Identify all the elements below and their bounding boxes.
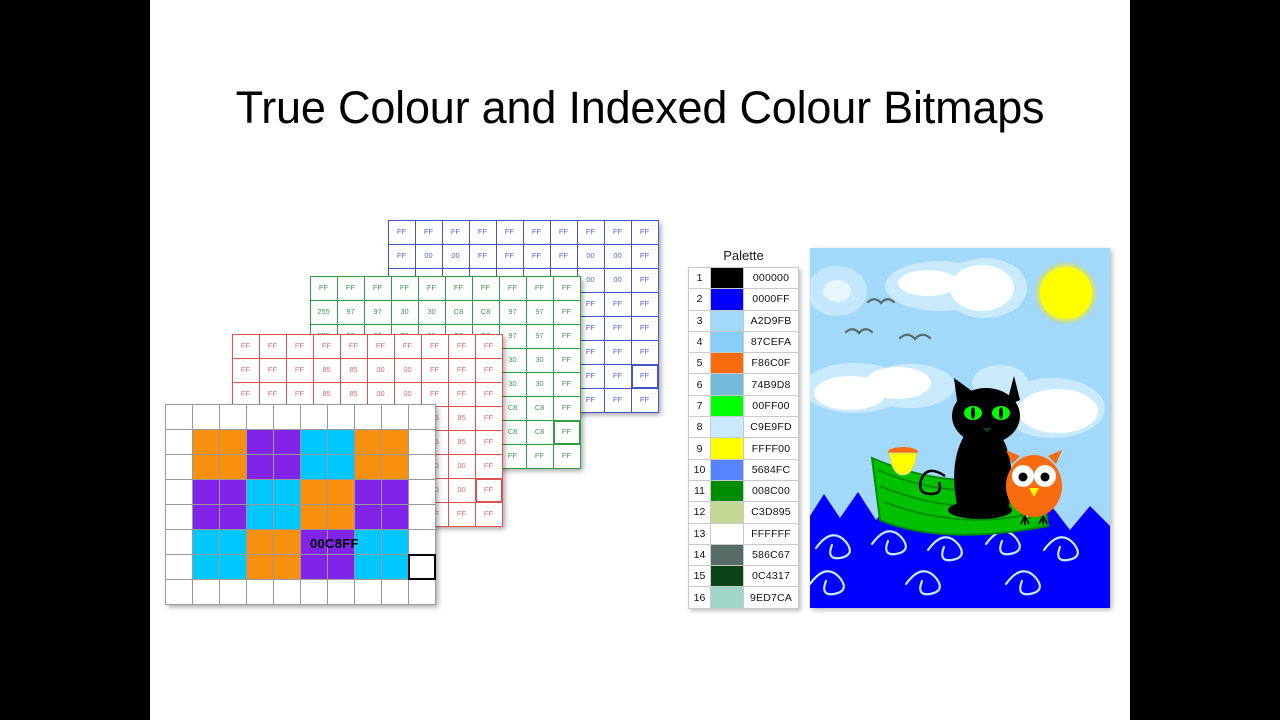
palette-table: 100000020000FF3A2D9FB487CEFA5F86C0F674B9… <box>688 267 799 609</box>
green-channel-cell: C8 <box>472 300 500 325</box>
pixel-cell[interactable] <box>408 479 436 505</box>
red-channel-cell: 85 <box>340 358 368 383</box>
pixel-cell[interactable] <box>219 479 247 505</box>
blue-channel-cell: FF <box>523 244 551 269</box>
blue-channel-cell: FF <box>469 220 497 245</box>
pixel-cell[interactable] <box>165 579 193 605</box>
swatch-colour <box>711 332 743 352</box>
green-channel-cell: FF <box>499 276 527 301</box>
blue-channel-cell: FF <box>577 364 605 389</box>
blue-channel-cell: FF <box>469 244 497 269</box>
palette-swatch[interactable] <box>711 523 744 544</box>
pixel-cell[interactable] <box>354 504 382 530</box>
blue-channel-cell: FF <box>577 340 605 365</box>
palette-swatch[interactable] <box>711 459 744 480</box>
pixel-cell[interactable] <box>408 454 436 480</box>
pixel-cell[interactable] <box>219 504 247 530</box>
blue-channel-cell: FF <box>442 220 470 245</box>
swatch-colour <box>711 587 743 607</box>
red-channel-cell: FF <box>475 382 503 407</box>
blue-channel-cell: FF <box>577 388 605 413</box>
red-channel-cell: FF <box>475 478 503 503</box>
green-channel-cell: 97 <box>364 300 392 325</box>
pixel-cell[interactable] <box>165 479 193 505</box>
pixel-cell[interactable] <box>246 554 274 580</box>
pixel-cell[interactable] <box>327 554 355 580</box>
palette-row[interactable]: 13FFFFFF <box>689 523 799 544</box>
palette-hex: 000000 <box>744 268 799 289</box>
pixel-cell[interactable] <box>381 504 409 530</box>
green-channel-cell: 30 <box>526 372 554 397</box>
palette-row[interactable]: 11008C00 <box>689 480 799 501</box>
green-channel-cell: FF <box>472 276 500 301</box>
green-channel-cell: C8 <box>526 420 554 445</box>
palette-swatch[interactable] <box>711 268 744 289</box>
pixel-cell[interactable] <box>165 404 193 430</box>
red-channel-cell: FF <box>421 358 449 383</box>
green-channel-cell: FF <box>553 276 581 301</box>
pixel-cell[interactable] <box>354 579 382 605</box>
pixel-cell[interactable] <box>273 554 301 580</box>
blue-channel-cell: FF <box>631 388 659 413</box>
palette-index: 2 <box>689 289 711 310</box>
red-channel-cell: 00 <box>367 358 395 383</box>
palette-swatch[interactable] <box>711 395 744 416</box>
red-channel-cell: 00 <box>448 478 476 503</box>
red-channel-cell: 85 <box>448 406 476 431</box>
blue-channel-cell: FF <box>523 220 551 245</box>
green-channel-cell: C8 <box>499 420 527 445</box>
blue-channel-cell: FF <box>604 340 632 365</box>
palette-index: 8 <box>689 417 711 438</box>
red-channel-cell: FF <box>448 502 476 527</box>
pixel-cell[interactable] <box>408 529 436 555</box>
palette-hex: C9E9FD <box>744 417 799 438</box>
pixel-cell[interactable] <box>246 404 274 430</box>
palette-index: 1 <box>689 268 711 289</box>
pixel-cell[interactable] <box>300 454 328 480</box>
palette-row[interactable]: 674B9D8 <box>689 374 799 395</box>
blue-channel-cell: 00 <box>415 244 443 269</box>
palette-index: 10 <box>689 459 711 480</box>
red-channel-cell: FF <box>475 454 503 479</box>
palette-index: 13 <box>689 523 711 544</box>
pixel-cell[interactable] <box>273 454 301 480</box>
pixel-cell[interactable] <box>381 454 409 480</box>
red-channel-cell: FF <box>259 358 287 383</box>
palette-swatch[interactable] <box>711 374 744 395</box>
palette-hex: C3D895 <box>744 502 799 523</box>
green-channel-cell: C8 <box>445 300 473 325</box>
red-channel-cell: 85 <box>448 430 476 455</box>
palette-hex: FFFF00 <box>744 438 799 459</box>
pixel-cell[interactable] <box>192 404 220 430</box>
sun <box>1040 267 1092 319</box>
pixel-cell[interactable] <box>300 554 328 580</box>
palette-index: 9 <box>689 438 711 459</box>
palette-swatch[interactable] <box>711 544 744 565</box>
pixel-cell[interactable] <box>327 479 355 505</box>
blue-channel-cell: FF <box>388 244 416 269</box>
blue-channel-cell: FF <box>577 220 605 245</box>
pixel-cell[interactable] <box>354 479 382 505</box>
pixel-cell[interactable] <box>246 429 274 455</box>
pixel-cell[interactable] <box>327 404 355 430</box>
pixel-cell[interactable] <box>192 504 220 530</box>
red-channel-cell: FF <box>232 358 260 383</box>
red-channel-cell: FF <box>313 334 341 359</box>
pixel-cell[interactable] <box>192 454 220 480</box>
swatch-colour <box>711 481 743 501</box>
blue-channel-cell: FF <box>631 340 659 365</box>
pixel-cell[interactable] <box>327 429 355 455</box>
blue-channel-cell: FF <box>550 244 578 269</box>
palette-hex: F86C0F <box>744 353 799 374</box>
palette-swatch[interactable] <box>711 480 744 501</box>
red-channel-cell: FF <box>421 334 449 359</box>
red-channel-cell: FF <box>448 382 476 407</box>
palette-row[interactable]: 105684FC <box>689 459 799 480</box>
palette-index: 4 <box>689 331 711 352</box>
pixel-cell[interactable] <box>300 429 328 455</box>
pixel-cell[interactable] <box>273 579 301 605</box>
blue-channel-cell: FF <box>631 316 659 341</box>
palette-swatch[interactable] <box>711 417 744 438</box>
pixel-cell[interactable] <box>327 454 355 480</box>
green-channel-cell: FF <box>445 276 473 301</box>
red-channel-cell: FF <box>286 334 314 359</box>
palette-hex: 87CEFA <box>744 331 799 352</box>
palette-row[interactable]: 20000FF <box>689 289 799 310</box>
red-channel-cell: FF <box>259 334 287 359</box>
green-channel-cell: 97 <box>499 324 527 349</box>
swatch-colour <box>711 353 743 373</box>
blue-channel-cell: FF <box>388 220 416 245</box>
red-channel-cell: FF <box>475 406 503 431</box>
palette-index: 15 <box>689 566 711 587</box>
pixel-cell[interactable] <box>381 529 409 555</box>
palette-hex: 74B9D8 <box>744 374 799 395</box>
swatch-colour <box>711 460 743 480</box>
blue-channel-cell: FF <box>604 220 632 245</box>
palette-panel: Palette 100000020000FF3A2D9FB487CEFA5F86… <box>688 248 799 609</box>
pixel-cell[interactable] <box>354 404 382 430</box>
blue-channel-cell: 00 <box>577 268 605 293</box>
pixel-cell[interactable] <box>246 454 274 480</box>
palette-index: 5 <box>689 353 711 374</box>
palette-swatch[interactable] <box>711 502 744 523</box>
green-channel-cell: FF <box>391 276 419 301</box>
red-channel-cell: FF <box>340 334 368 359</box>
blue-channel-cell: 00 <box>604 268 632 293</box>
green-channel-cell: FF <box>553 444 581 469</box>
palette-swatch[interactable] <box>711 438 744 459</box>
blue-channel-cell: FF <box>631 244 659 269</box>
pixel-cell[interactable] <box>192 579 220 605</box>
pixel-cell[interactable] <box>408 579 436 605</box>
pixel-cell[interactable] <box>300 404 328 430</box>
palette-row[interactable]: 14586C67 <box>689 544 799 565</box>
green-channel-cell: 30 <box>499 348 527 373</box>
blue-channel-cell: FF <box>631 268 659 293</box>
green-channel-cell: FF <box>364 276 392 301</box>
swatch-colour <box>711 502 743 522</box>
pixel-cell[interactable] <box>354 429 382 455</box>
red-channel-cell: FF <box>286 358 314 383</box>
pixel-cell[interactable] <box>192 479 220 505</box>
palette-row[interactable]: 150C4317 <box>689 566 799 587</box>
green-channel-cell: 30 <box>526 348 554 373</box>
page-title: True Colour and Indexed Colour Bitmaps <box>150 82 1130 134</box>
palette-hex: 008C00 <box>744 480 799 501</box>
blue-channel-cell: 00 <box>577 244 605 269</box>
pixel-cell[interactable] <box>381 429 409 455</box>
swatch-colour <box>711 311 743 331</box>
palette-index: 11 <box>689 480 711 501</box>
red-channel-cell: FF <box>232 334 260 359</box>
pixel-cell[interactable] <box>381 579 409 605</box>
slide-canvas: True Colour and Indexed Colour Bitmaps F… <box>150 0 1130 720</box>
pixel-cell[interactable] <box>219 454 247 480</box>
green-channel-cell: FF <box>418 276 446 301</box>
blue-channel-cell: FF <box>415 220 443 245</box>
green-channel-cell: 30 <box>391 300 419 325</box>
palette-hex: 0C4317 <box>744 566 799 587</box>
pixel-cell[interactable] <box>165 429 193 455</box>
palette-index: 7 <box>689 395 711 416</box>
green-channel-cell: FF <box>526 444 554 469</box>
green-channel-cell: FF <box>526 276 554 301</box>
palette-swatch[interactable] <box>711 353 744 374</box>
palette-hex: FFFFFF <box>744 523 799 544</box>
pixel-cell[interactable] <box>354 554 382 580</box>
blue-channel-cell: FF <box>496 220 524 245</box>
palette-index: 3 <box>689 310 711 331</box>
swatch-colour <box>711 374 743 394</box>
swatch-colour <box>711 438 743 458</box>
pixel-cell[interactable] <box>219 529 247 555</box>
composite-pixel-grid[interactable] <box>165 404 435 604</box>
palette-index: 6 <box>689 374 711 395</box>
palette-row[interactable]: 3A2D9FB <box>689 310 799 331</box>
green-channel-cell: FF <box>310 276 338 301</box>
pixel-cell[interactable] <box>246 479 274 505</box>
green-channel-cell: FF <box>499 444 527 469</box>
palette-index: 16 <box>689 587 711 608</box>
blue-channel-cell: FF <box>631 220 659 245</box>
palette-title: Palette <box>688 248 799 263</box>
palette-hex: 9ED7CA <box>744 587 799 608</box>
palette-swatch[interactable] <box>711 289 744 310</box>
pixel-cell[interactable] <box>246 504 274 530</box>
blue-channel-cell: FF <box>604 316 632 341</box>
pixel-cell[interactable] <box>300 479 328 505</box>
pixel-cell[interactable] <box>408 554 436 580</box>
palette-row[interactable]: 1000000 <box>689 268 799 289</box>
pixel-cell[interactable] <box>354 454 382 480</box>
pixel-cell[interactable] <box>219 554 247 580</box>
palette-row[interactable]: 169ED7CA <box>689 587 799 608</box>
blue-channel-cell: FF <box>604 292 632 317</box>
pixel-cell[interactable] <box>165 454 193 480</box>
palette-index: 12 <box>689 502 711 523</box>
palette-row[interactable]: 700FF00 <box>689 395 799 416</box>
blue-channel-cell: FF <box>496 244 524 269</box>
indexed-colour-image <box>810 248 1110 608</box>
slide-stage: True Colour and Indexed Colour Bitmaps F… <box>0 0 1280 720</box>
pixel-cell[interactable] <box>327 579 355 605</box>
pixel-value-label: 00C8FF <box>310 536 359 551</box>
red-channel-cell: FF <box>448 334 476 359</box>
pixel-cell[interactable] <box>192 554 220 580</box>
palette-hex: A2D9FB <box>744 310 799 331</box>
pixel-cell[interactable] <box>408 429 436 455</box>
palette-hex: 00FF00 <box>744 395 799 416</box>
green-channel-cell: C8 <box>499 396 527 421</box>
green-channel-cell: FF <box>553 420 581 445</box>
green-channel-cell: 255 <box>310 300 338 325</box>
palette-hex: 586C67 <box>744 544 799 565</box>
swatch-colour <box>711 417 743 437</box>
pixel-cell[interactable] <box>219 429 247 455</box>
palette-hex: 5684FC <box>744 459 799 480</box>
pixel-cell[interactable] <box>246 529 274 555</box>
pixel-cell[interactable] <box>219 404 247 430</box>
blue-channel-cell: FF <box>550 220 578 245</box>
pixel-cell[interactable] <box>273 504 301 530</box>
green-channel-cell: FF <box>553 372 581 397</box>
palette-swatch[interactable] <box>711 331 744 352</box>
palette-row[interactable]: 8C9E9FD <box>689 417 799 438</box>
swatch-colour <box>711 396 743 416</box>
red-channel-cell: FF <box>448 358 476 383</box>
blue-channel-cell: 00 <box>442 244 470 269</box>
green-channel-cell: FF <box>553 300 581 325</box>
pixel-cell[interactable] <box>273 479 301 505</box>
green-channel-cell: FF <box>553 396 581 421</box>
green-channel-cell: FF <box>337 276 365 301</box>
green-channel-cell: C8 <box>526 396 554 421</box>
pixel-cell[interactable] <box>300 579 328 605</box>
blue-channel-cell: FF <box>631 364 659 389</box>
swatch-colour <box>711 268 743 288</box>
blue-channel-cell: 00 <box>604 244 632 269</box>
pixel-cell[interactable] <box>273 404 301 430</box>
swatch-colour <box>711 289 743 309</box>
green-channel-cell: 97 <box>337 300 365 325</box>
pixel-cell[interactable] <box>381 554 409 580</box>
red-channel-cell: 00 <box>448 454 476 479</box>
green-channel-cell: 97 <box>499 300 527 325</box>
pixel-cell[interactable] <box>219 579 247 605</box>
red-channel-cell: FF <box>475 430 503 455</box>
blue-channel-cell: FF <box>631 292 659 317</box>
green-channel-cell: 97 <box>526 300 554 325</box>
palette-row[interactable]: 5F86C0F <box>689 353 799 374</box>
green-channel-cell: 30 <box>418 300 446 325</box>
green-channel-cell: 30 <box>499 372 527 397</box>
pixel-cell[interactable] <box>273 529 301 555</box>
red-channel-cell: FF <box>475 358 503 383</box>
red-channel-cell: FF <box>475 334 503 359</box>
red-channel-cell: FF <box>394 334 422 359</box>
pixel-cell[interactable] <box>327 504 355 530</box>
blue-channel-cell: FF <box>604 388 632 413</box>
palette-swatch[interactable] <box>711 587 744 608</box>
pixel-cell[interactable] <box>165 504 193 530</box>
palette-index: 14 <box>689 544 711 565</box>
pixel-cell[interactable] <box>165 554 193 580</box>
palette-row[interactable]: 487CEFA <box>689 331 799 352</box>
blue-channel-cell: FF <box>577 316 605 341</box>
swatch-colour <box>711 545 743 565</box>
green-channel-cell: 97 <box>526 324 554 349</box>
red-channel-cell: FF <box>367 334 395 359</box>
pixel-cell[interactable] <box>408 404 436 430</box>
swatch-colour <box>711 524 743 544</box>
pixel-cell[interactable] <box>192 429 220 455</box>
blue-channel-cell: FF <box>577 292 605 317</box>
pixel-cell[interactable] <box>300 504 328 530</box>
palette-hex: 0000FF <box>744 289 799 310</box>
pixel-cell[interactable] <box>165 529 193 555</box>
pixel-cell[interactable] <box>273 429 301 455</box>
swatch-colour <box>711 566 743 586</box>
pixel-cell[interactable] <box>381 404 409 430</box>
pixel-cell[interactable] <box>408 504 436 530</box>
green-channel-cell: FF <box>553 348 581 373</box>
green-channel-cell: FF <box>553 324 581 349</box>
palette-swatch[interactable] <box>711 566 744 587</box>
pixel-cell[interactable] <box>381 479 409 505</box>
red-channel-cell: 85 <box>313 358 341 383</box>
palette-swatch[interactable] <box>711 310 744 331</box>
palette-row[interactable]: 12C3D895 <box>689 502 799 523</box>
pixel-cell[interactable] <box>192 529 220 555</box>
blue-channel-cell: FF <box>604 364 632 389</box>
red-channel-cell: 00 <box>394 358 422 383</box>
palette-row[interactable]: 9FFFF00 <box>689 438 799 459</box>
pixel-cell[interactable] <box>246 579 274 605</box>
red-channel-cell: FF <box>475 502 503 527</box>
